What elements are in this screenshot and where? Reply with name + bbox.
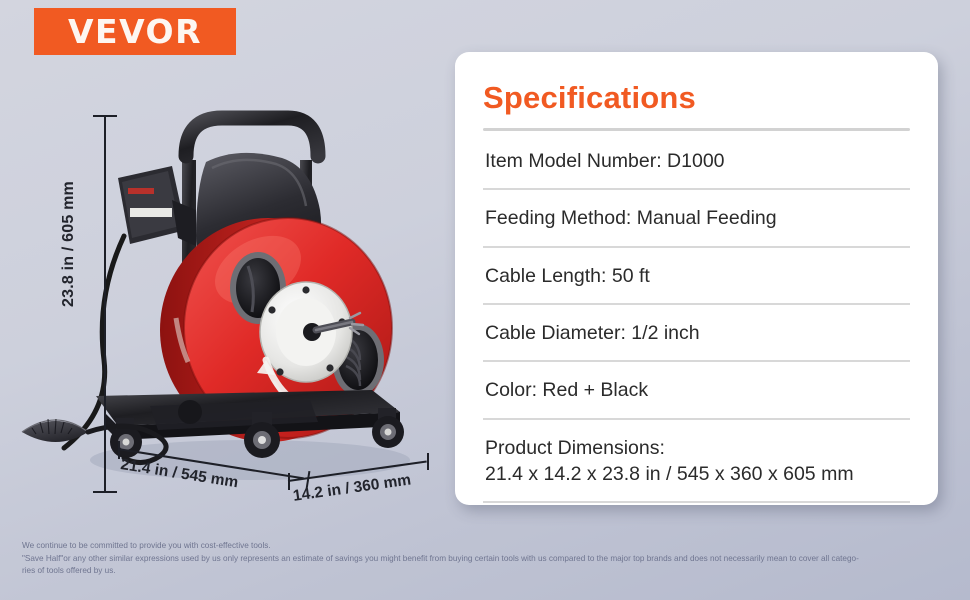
height-dimension-cap-bottom [93, 491, 117, 493]
spec-text: Color: Red + Black [485, 379, 648, 401]
specifications-title: Specifications [483, 80, 910, 116]
height-dimension-label: 23.8 in / 605 mm [60, 149, 78, 339]
spec-row-product-dimensions: Product Dimensions: 21.4 x 14.2 x 23.8 i… [483, 420, 910, 504]
spec-text-second-line: 21.4 x 14.2 x 23.8 in / 545 x 360 x 605 … [485, 461, 908, 487]
spec-row-cable-length: Cable Length: 50 ft [483, 248, 910, 305]
specifications-list: Item Model Number: D1000 Feeding Method:… [483, 133, 910, 503]
title-divider [483, 128, 910, 131]
height-dimension-line [104, 115, 106, 493]
spec-row-feeding-method: Feeding Method: Manual Feeding [483, 190, 910, 247]
product-figure: 23.8 in / 605 mm 21.4 in / 545 mm 14.2 i… [0, 60, 455, 520]
disclaimer: We continue to be committed to provide y… [22, 540, 947, 578]
spec-text: Item Model Number: D1000 [485, 150, 725, 172]
vevor-logo: VEVOR [34, 8, 236, 55]
spec-row-color: Color: Red + Black [483, 362, 910, 419]
spec-row-cable-diameter: Cable Diameter: 1/2 inch [483, 305, 910, 362]
brand-wordmark: VEVOR [68, 12, 202, 51]
product-spec-page: VEVOR [0, 0, 970, 600]
spec-text: Cable Length: 50 ft [485, 265, 650, 287]
disclaimer-line-2: "Save Half"or any other similar expressi… [22, 553, 947, 566]
disclaimer-line-3: ries of tools offered by us. [22, 565, 947, 578]
spec-text: Product Dimensions: [485, 437, 665, 459]
spec-row-item-model-number: Item Model Number: D1000 [483, 133, 910, 190]
disclaimer-line-1: We continue to be committed to provide y… [22, 540, 947, 553]
spec-text: Cable Diameter: 1/2 inch [485, 322, 700, 344]
depth-dimension-cap-right [427, 453, 429, 470]
spec-text: Feeding Method: Manual Feeding [485, 207, 777, 229]
specifications-panel: Specifications Item Model Number: D1000 … [455, 52, 938, 505]
